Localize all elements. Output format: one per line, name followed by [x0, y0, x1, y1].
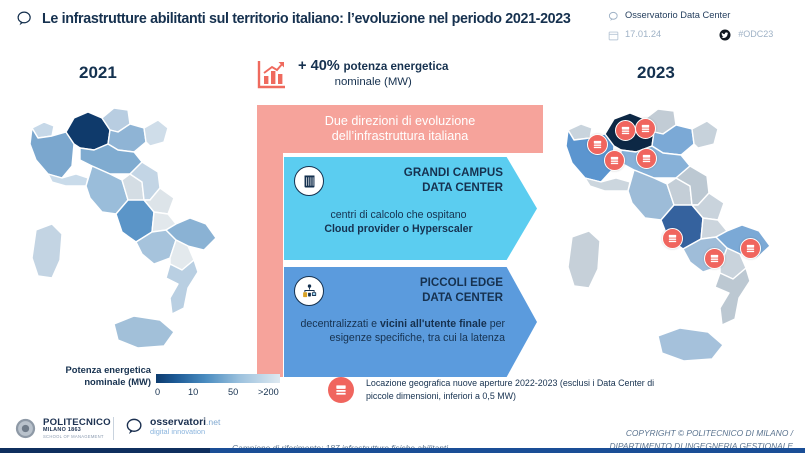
map-year-label-2023: 2023: [637, 63, 675, 83]
data-center-rack-icon: [641, 153, 652, 164]
arrow-body-plain: centri di calcolo che ospitano: [330, 209, 466, 221]
map-marker-piemonte[interactable]: [587, 134, 608, 155]
region-sardegna: [32, 224, 62, 278]
bar-chart-growth-icon: [256, 58, 288, 90]
header-meta: Osservatorio Data Center 17.01.24: [608, 7, 798, 42]
header-date-hashtag-row: 17.01.24 #ODC23: [608, 25, 798, 42]
arrow-content: PICCOLI EDGE DATA CENTER decentralizzati…: [284, 267, 537, 377]
edge-network-icon: [294, 276, 324, 306]
osservatori-text: osservatori.net digital innovation: [150, 417, 220, 436]
map-marker-piemonte-sud[interactable]: [604, 150, 625, 171]
arrow-title-piccoli-edge: PICCOLI EDGE DATA CENTER: [420, 275, 503, 305]
legend-power-gradient: Potenza energetica nominale (MW) 0 10 50…: [55, 362, 280, 410]
pink-accent-strip: [257, 153, 283, 377]
data-center-rack-icon: [745, 243, 756, 254]
direction-banner: Due direzioni di evoluzione dell’infrast…: [257, 105, 543, 153]
region-liguria: [585, 178, 630, 191]
osservatori-logo[interactable]: osservatori.net digital innovation: [125, 417, 220, 436]
arrow-body-lead: decentralizzati e: [301, 318, 381, 330]
direction-banner-line1: Due direzioni di evoluzione: [325, 114, 476, 129]
italy-map-2021[interactable]: [18, 88, 234, 368]
map-marker-emilia[interactable]: [636, 148, 657, 169]
legend-new-openings-text: Locazione geografica nuove aperture 2022…: [366, 376, 654, 402]
growth-subline: nominale (MW): [298, 76, 449, 88]
calendar-icon: [608, 28, 619, 39]
data-center-rack-icon: [620, 125, 631, 136]
server-rack-icon: [294, 166, 324, 196]
region-friuli: [692, 121, 718, 148]
observatory-name: Osservatorio Data Center: [625, 10, 730, 20]
legend-gradient-bar: [156, 374, 280, 383]
map-year-label-2021: 2021: [79, 63, 117, 83]
legend-gradient-label-line1: Potenza energetica: [55, 364, 151, 376]
footer-divider: [113, 417, 114, 440]
arrow-piccoli-edge[interactable]: PICCOLI EDGE DATA CENTER decentralizzati…: [284, 267, 537, 377]
arrow-grandi-campus[interactable]: GRANDI CAMPUS DATA CENTER centri di calc…: [284, 157, 537, 260]
map-marker-lazio[interactable]: [662, 228, 683, 249]
arrow-title-line1: PICCOLI EDGE: [420, 275, 503, 290]
region-sicilia: [114, 316, 174, 348]
event-hashtag: #ODC23: [738, 29, 773, 39]
arrow-body-bold: Cloud provider o Hyperscaler: [324, 223, 472, 235]
region-friuli: [144, 120, 168, 146]
osservatori-tagline: digital innovation: [150, 428, 220, 436]
map-marker-puglia[interactable]: [740, 238, 761, 259]
page-header: Le infrastrutture abilitanti sul territo…: [0, 0, 805, 44]
speech-bubble-icon: [608, 9, 619, 20]
legend-tick-0: 0: [155, 387, 160, 397]
arrow-content: GRANDI CAMPUS DATA CENTER centri di calc…: [284, 157, 537, 260]
publication-date: 17.01.24: [625, 29, 661, 39]
map-marker-campania[interactable]: [704, 248, 725, 269]
region-piemonte: [30, 128, 74, 178]
italy-choropleth-2021-svg: [18, 88, 234, 368]
direction-banner-line2: dell’infrastruttura italiana: [332, 129, 469, 144]
region-liguria: [48, 174, 88, 186]
data-center-rack-icon: [592, 139, 603, 150]
italy-map-2023[interactable]: [552, 88, 792, 373]
data-center-rack-icon: [709, 253, 720, 264]
polimi-logo: POLITECNICO MILANO 1863 SCHOOL OF MANAGE…: [15, 418, 111, 439]
arrow-body-piccoli-edge: decentralizzati e vicini all'utente fina…: [288, 317, 505, 346]
growth-text: + 40% potenza energetica nominale (MW): [298, 56, 449, 88]
region-sicilia: [658, 328, 723, 361]
legend-gradient-ticks: 0 10 50 >200: [151, 387, 285, 401]
page-title: Le infrastrutture abilitanti sul territo…: [42, 11, 570, 27]
growth-headline: + 40% potenza energetica: [298, 58, 449, 74]
growth-label: potenza energetica: [343, 60, 448, 73]
arrow-title-line2: DATA CENTER: [420, 290, 503, 305]
legend-tick-50: 50: [228, 387, 238, 397]
arrow-title-line1: GRANDI CAMPUS: [404, 165, 503, 180]
polimi-sub: MILANO 1863: [43, 428, 111, 434]
speech-bubble-icon: [16, 10, 33, 27]
polimi-seal-icon: [15, 418, 36, 439]
data-center-rack-icon: [609, 155, 620, 166]
header-observatory-row: Osservatorio Data Center: [608, 7, 798, 22]
header-title-wrap: Le infrastrutture abilitanti sul territo…: [16, 10, 570, 27]
legend-gradient-label-line2: nominale (MW): [55, 376, 151, 388]
data-center-rack-icon: [328, 377, 354, 403]
map-marker-lombardia-2[interactable]: [635, 118, 656, 139]
arrow-title-line2: DATA CENTER: [404, 180, 503, 195]
legend-new-openings-line1: Locazione geografica nuove aperture 2022…: [366, 377, 654, 390]
legend-new-openings-line2: piccole dimensioni, inferiori a 0,5 MW): [366, 390, 654, 403]
legend-tick-10: 10: [188, 387, 198, 397]
polimi-school: SCHOOL OF MANAGEMENT: [43, 435, 111, 439]
growth-callout: + 40% potenza energetica nominale (MW): [256, 56, 546, 102]
region-sardegna: [568, 231, 600, 288]
map-marker-lombardia-1[interactable]: [615, 120, 636, 141]
osservatori-domain: .net: [206, 417, 220, 427]
data-center-rack-icon: [667, 233, 678, 244]
legend-new-openings: Locazione geografica nuove aperture 2022…: [328, 376, 688, 410]
twitter-icon[interactable]: [719, 28, 731, 40]
bottom-accent-bar-dark: [0, 448, 210, 453]
copyright-line1: COPYRIGHT © POLITECNICO DI MILANO /: [609, 427, 793, 440]
growth-value: + 40%: [298, 58, 340, 74]
arrow-title-grandi-campus: GRANDI CAMPUS DATA CENTER: [404, 165, 503, 195]
data-center-rack-icon: [640, 123, 651, 134]
polimi-text: POLITECNICO MILANO 1863 SCHOOL OF MANAGE…: [43, 418, 111, 439]
legend-gradient-label: Potenza energetica nominale (MW): [55, 364, 151, 388]
page-footer: POLITECNICO MILANO 1863 SCHOOL OF MANAGE…: [0, 412, 805, 453]
arrow-body-grandi-campus: centri di calcolo che ospitano Cloud pro…: [290, 208, 507, 237]
speech-bubble-icon: [125, 417, 144, 436]
arrow-body-bold: vicini all'utente finale: [380, 318, 487, 330]
center-panel: + 40% potenza energetica nominale (MW) D…: [248, 52, 548, 377]
legend-tick-200: >200: [258, 387, 279, 397]
